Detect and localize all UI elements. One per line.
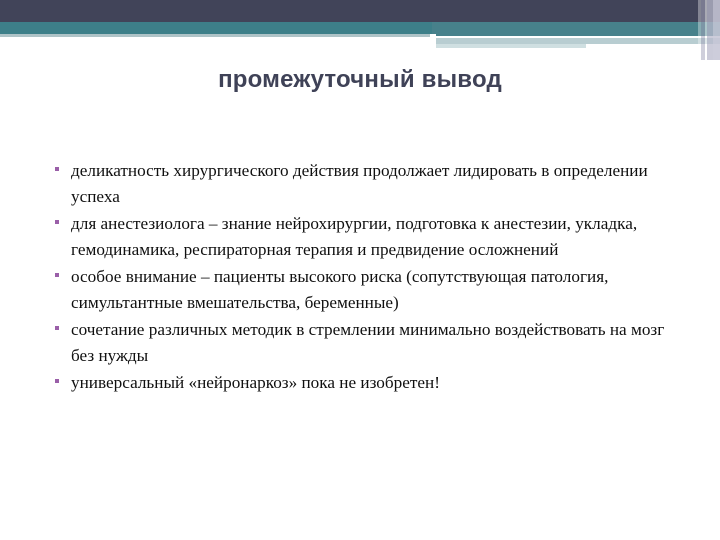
- list-item-text: сочетание различных методик в стремлении…: [71, 320, 664, 365]
- square-bullet-icon: [55, 379, 59, 383]
- square-bullet-icon: [55, 273, 59, 277]
- list-item-text: для анестезиолога – знание нейрохирургии…: [71, 214, 637, 259]
- stripe-6: [713, 0, 720, 60]
- slide-body: деликатность хирургического действия про…: [48, 158, 688, 398]
- header-pale-band-left: [0, 34, 432, 37]
- list-item: особое внимание – пациенты высокого риск…: [48, 264, 688, 315]
- list-item: для анестезиолога – знание нейрохирургии…: [48, 211, 688, 262]
- list-item: универсальный «нейронаркоз» пока не изоб…: [48, 370, 688, 396]
- square-bullet-icon: [55, 220, 59, 224]
- header-underline-accent: [436, 44, 586, 48]
- header-banner: [0, 0, 720, 60]
- header-teal-band-right: [432, 22, 720, 36]
- header-vertical-stripes: [688, 0, 720, 60]
- list-item-text: универсальный «нейронаркоз» пока не изоб…: [71, 373, 440, 392]
- list-item-text: деликатность хирургического действия про…: [71, 161, 648, 206]
- list-item: деликатность хирургического действия про…: [48, 158, 688, 209]
- square-bullet-icon: [55, 326, 59, 330]
- slide-title: промежуточный вывод: [0, 66, 720, 94]
- bullet-list: деликатность хирургического действия про…: [48, 158, 688, 396]
- list-item: сочетание различных методик в стремлении…: [48, 317, 688, 368]
- header-notch: [430, 34, 436, 50]
- square-bullet-icon: [55, 167, 59, 171]
- list-item-text: особое внимание – пациенты высокого риск…: [71, 267, 608, 312]
- slide-canvas: промежуточный вывод деликатность хирурги…: [0, 0, 720, 540]
- stripe-1: [688, 0, 698, 60]
- header-dark-band: [0, 0, 720, 22]
